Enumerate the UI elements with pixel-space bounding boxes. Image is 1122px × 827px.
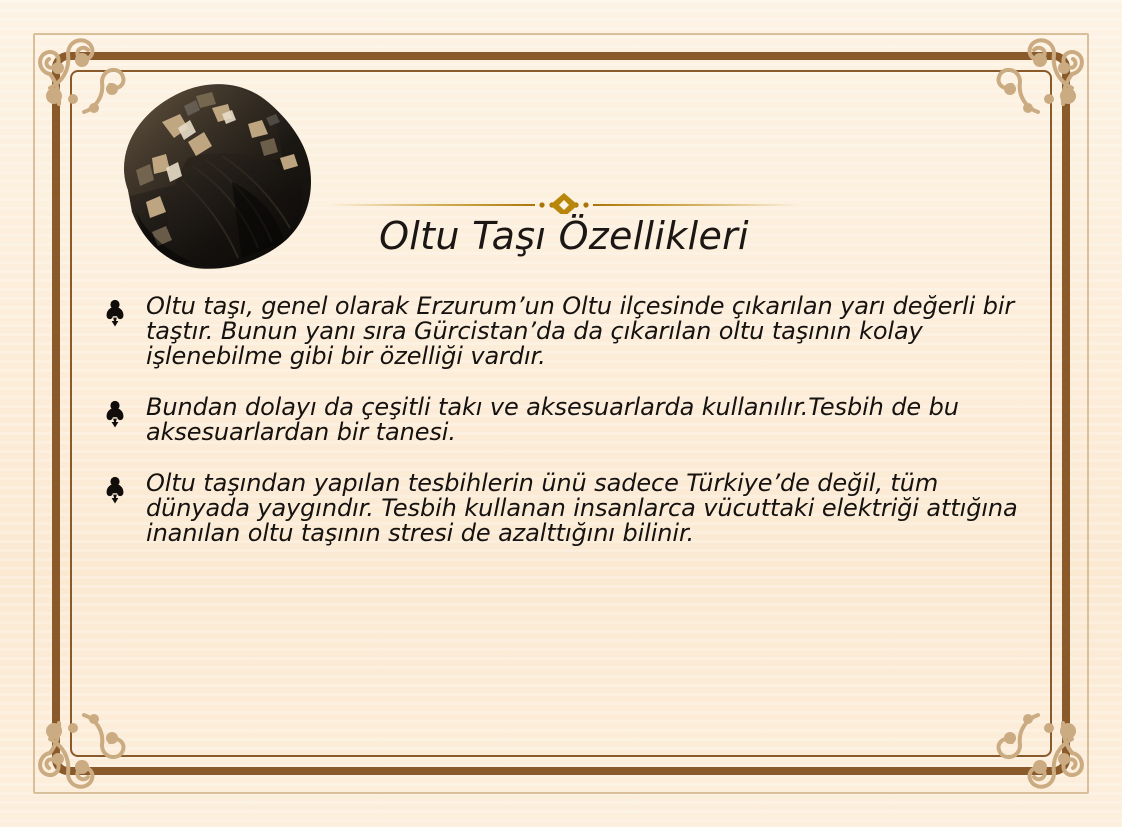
list-item: Bundan dolayı da çeşitli takı ve aksesua… — [100, 395, 1030, 445]
oltu-stone-image — [92, 62, 324, 290]
fleur-de-lis-bullet-icon — [100, 298, 130, 328]
list-item-text: Oltu taşından yapılan tesbihlerin ünü sa… — [146, 471, 1030, 546]
corner-flourish-bottom-right — [956, 661, 1106, 811]
list-item: Oltu taşı, genel olarak Erzurum’un Oltu … — [100, 294, 1030, 369]
list-item-text: Bundan dolayı da çeşitli takı ve aksesua… — [146, 395, 1030, 445]
ornamental-divider-icon — [330, 190, 798, 214]
corner-flourish-bottom-left — [16, 661, 166, 811]
info-card: Oltu Taşı Özellikleri Oltu taşı, genel o… — [0, 0, 1122, 827]
list-item-text: Oltu taşı, genel olarak Erzurum’un Oltu … — [146, 294, 1030, 369]
fleur-de-lis-bullet-icon — [100, 399, 130, 429]
list-item: Oltu taşından yapılan tesbihlerin ünü sa… — [100, 471, 1030, 546]
fleur-de-lis-bullet-icon — [100, 475, 130, 505]
page-title: Oltu Taşı Özellikleri — [330, 214, 798, 258]
title-block: Oltu Taşı Özellikleri — [330, 190, 798, 258]
feature-list: Oltu taşı, genel olarak Erzurum’un Oltu … — [100, 294, 1030, 572]
corner-flourish-top-right — [956, 16, 1106, 166]
